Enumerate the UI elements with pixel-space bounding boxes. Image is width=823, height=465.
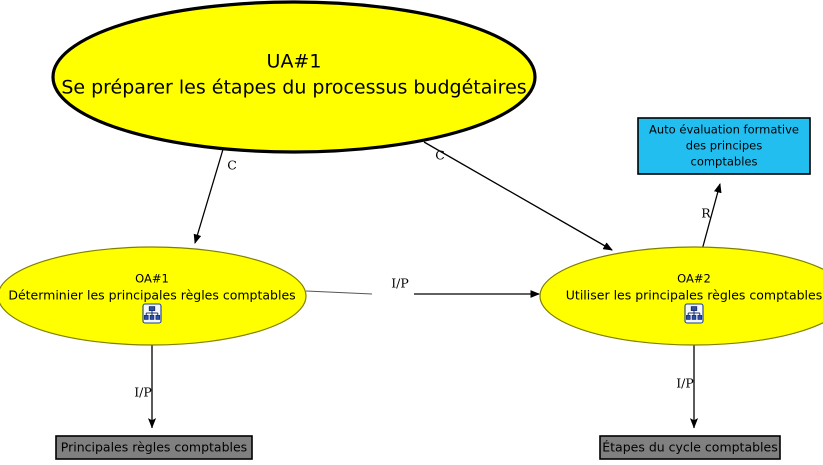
diagram-canvas: C C I/P R I/P I/P (0, 0, 823, 465)
node-principales-regles[interactable]: Principales règles comptables (56, 436, 252, 459)
node-oa2-label: Utiliser les principales règles comptabl… (566, 288, 822, 303)
edge-label-oa2-box: I/P (676, 376, 694, 391)
node-oa1-code: OA#1 (135, 272, 169, 286)
edge-ua1-to-oa2-line (424, 142, 612, 250)
edge-oa2-to-etapes-cycle: I/P (676, 345, 694, 428)
org-chart-icon[interactable] (143, 304, 161, 323)
node-etapes-cycle[interactable]: Étapes du cycle comptables (600, 436, 780, 459)
edge-oa1-to-oa2: I/P (306, 276, 539, 295)
edge-label-oa1-oa2: I/P (391, 276, 409, 291)
edge-ua1-to-oa1-line (195, 146, 224, 243)
node-auto-evaluation-line1: Auto évaluation formative (649, 123, 799, 137)
node-oa1-label: Déterminier les principales règles compt… (8, 288, 295, 303)
edge-label-oa2-auto-eval: R (701, 206, 711, 221)
edge-label-oa1-box: I/P (134, 385, 152, 400)
edge-label-ua1-oa2: C (435, 148, 445, 163)
node-ua1[interactable]: UA#1 Se préparer les étapes du processus… (53, 2, 535, 152)
node-principales-regles-label: Principales règles comptables (61, 440, 247, 455)
edge-ua1-to-oa1: C (195, 146, 237, 243)
concept-map-diagram: C C I/P R I/P I/P (0, 0, 823, 465)
node-oa1[interactable]: OA#1 Déterminier les principales règles … (0, 247, 306, 345)
node-auto-evaluation-line2: des principes (686, 139, 762, 153)
edge-oa1-to-principales-regles: I/P (134, 345, 152, 428)
node-etapes-cycle-label: Étapes du cycle comptables (602, 440, 777, 455)
edge-ua1-to-oa2: C (424, 142, 612, 250)
node-oa2-code: OA#2 (677, 272, 711, 286)
edge-label-ua1-oa1: C (227, 158, 237, 173)
node-auto-evaluation-line3: comptables (691, 155, 758, 169)
node-ua1-code: UA#1 (267, 51, 322, 73)
node-oa2[interactable]: OA#2 Utiliser les principales règles com… (540, 247, 823, 345)
node-auto-evaluation[interactable]: Auto évaluation formative des principes … (638, 118, 810, 174)
edge-oa1-to-oa2-line-a (306, 291, 372, 294)
edge-oa2-to-auto-eval: R (701, 184, 720, 250)
org-chart-icon[interactable] (685, 304, 703, 323)
node-ua1-label: Se préparer les étapes du processus budg… (61, 77, 526, 99)
